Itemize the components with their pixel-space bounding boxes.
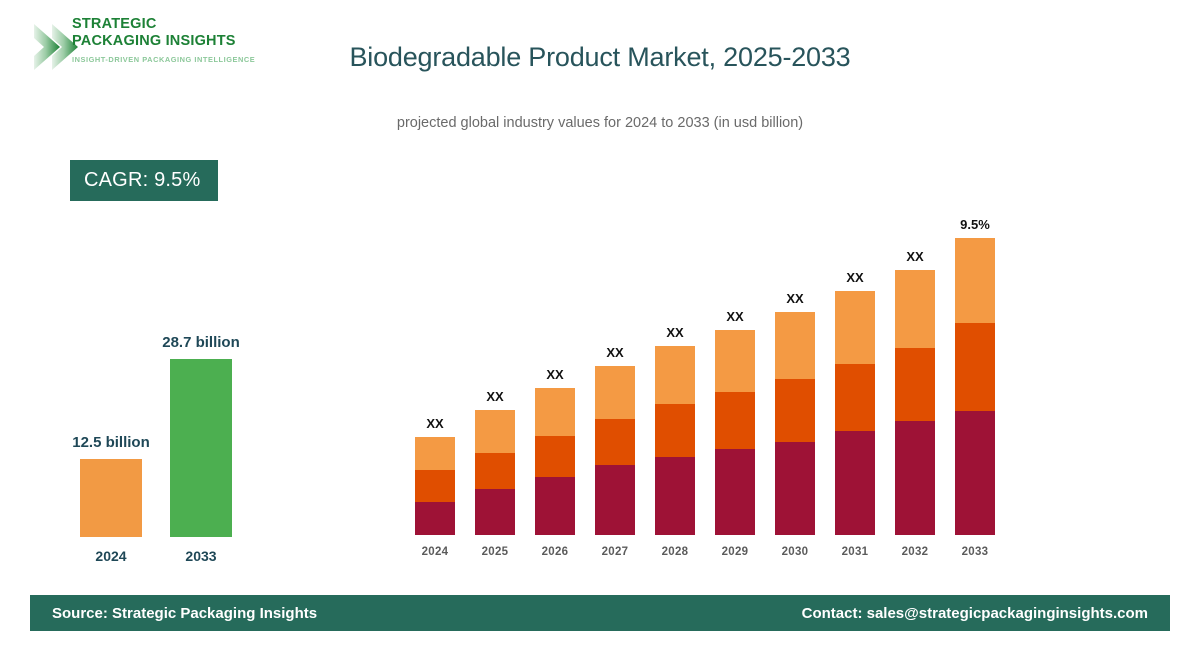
stacked-segment-segment-middle (415, 470, 455, 502)
comparison-bar-chart: 12.5 billion202428.7 billion2033 (50, 300, 280, 570)
stacked-bar-value-label: XX (875, 249, 955, 264)
stacked-segment-segment-top (475, 410, 515, 453)
stacked-column: XX2028 (655, 225, 695, 560)
stacked-segment-segment-top (415, 437, 455, 470)
page-subtitle: projected global industry values for 202… (250, 115, 950, 131)
stacked-segment-segment-top (775, 312, 815, 379)
stacked-segment-segment-middle (475, 453, 515, 489)
cagr-badge: CAGR: 9.5% (70, 160, 218, 201)
stacked-bar (415, 437, 455, 535)
stacked-bar-value-label: XX (815, 270, 895, 285)
footer-bar: Source: Strategic Packaging Insights Con… (30, 595, 1170, 631)
stacked-column: XX2024 (415, 225, 455, 560)
stacked-bar (895, 270, 935, 535)
stacked-segment-segment-bottom (655, 457, 695, 535)
stacked-segment-segment-top (715, 330, 755, 392)
stacked-segment-segment-middle (655, 404, 695, 457)
comparison-year-label: 2033 (170, 548, 232, 564)
comparison-value-label: 28.7 billion (140, 334, 262, 351)
logo-line-2: PACKAGING INSIGHTS (72, 33, 255, 50)
stacked-bar-value-label: XX (515, 367, 595, 382)
stacked-segment-segment-top (595, 366, 635, 419)
stacked-column: 9.5%2033 (955, 225, 995, 560)
comparison-bar (80, 459, 142, 537)
stacked-column: XX2032 (895, 225, 935, 560)
stacked-segment-segment-bottom (415, 502, 455, 535)
logo-line-1: STRATEGIC (72, 16, 255, 33)
stacked-bar-value-label: XX (635, 325, 715, 340)
page-title: Biodegradable Product Market, 2025-2033 (250, 42, 950, 73)
stacked-segment-segment-bottom (475, 489, 515, 535)
stacked-segment-segment-middle (595, 419, 635, 465)
stacked-year-label: 2030 (769, 546, 821, 558)
stacked-segment-segment-top (655, 346, 695, 404)
comparison-year-label: 2024 (80, 548, 142, 564)
cagr-badge-label: CAGR: 9.5% (84, 169, 200, 192)
stacked-year-label: 2031 (829, 546, 881, 558)
stacked-year-label: 2033 (949, 546, 1001, 558)
stacked-segment-segment-middle (895, 348, 935, 421)
stacked-segment-segment-bottom (595, 465, 635, 535)
stacked-column: XX2030 (775, 225, 815, 560)
stacked-bar-value-label: XX (395, 416, 475, 431)
stacked-bar-value-label: XX (695, 309, 775, 324)
stacked-bar-chart: XX2024XX2025XX2026XX2027XX2028XX2029XX20… (405, 200, 1025, 560)
stacked-bar-value-label: XX (575, 345, 655, 360)
stacked-bar-value-label: XX (755, 291, 835, 306)
stacked-segment-segment-middle (775, 379, 815, 442)
stacked-segment-segment-bottom (895, 421, 935, 535)
comparison-value-label: 12.5 billion (50, 434, 172, 451)
stacked-column: XX2027 (595, 225, 635, 560)
stacked-column: XX2025 (475, 225, 515, 560)
stacked-year-label: 2027 (589, 546, 641, 558)
stacked-bar (595, 366, 635, 535)
stacked-year-label: 2024 (409, 546, 461, 558)
stacked-segment-segment-bottom (835, 431, 875, 535)
comparison-column: 28.7 billion2033 (170, 333, 232, 570)
stacked-year-label: 2029 (709, 546, 761, 558)
stacked-segment-segment-top (955, 238, 995, 323)
stacked-segment-segment-middle (835, 364, 875, 431)
stacked-bar (535, 388, 575, 535)
logo-tagline: INSIGHT-DRIVEN PACKAGING INTELLIGENCE (72, 54, 255, 65)
comparison-column: 12.5 billion2024 (80, 333, 142, 570)
stacked-bar-value-label: XX (455, 389, 535, 404)
stacked-bar (655, 346, 695, 535)
stacked-year-label: 2032 (889, 546, 941, 558)
stacked-column: XX2031 (835, 225, 875, 560)
stacked-segment-segment-bottom (955, 411, 995, 535)
stacked-segment-segment-middle (955, 323, 995, 411)
stacked-segment-segment-top (835, 291, 875, 364)
stacked-column: XX2029 (715, 225, 755, 560)
stacked-bar (835, 291, 875, 535)
stacked-year-label: 2026 (529, 546, 581, 558)
stacked-segment-segment-bottom (535, 477, 575, 535)
comparison-bar (170, 359, 232, 537)
stacked-bar (475, 410, 515, 535)
stacked-bar (775, 312, 815, 535)
stacked-segment-segment-top (535, 388, 575, 436)
stacked-segment-segment-bottom (775, 442, 815, 535)
stacked-year-label: 2025 (469, 546, 521, 558)
footer-source-text: Source: Strategic Packaging Insights (52, 605, 317, 622)
logo-wordmark: STRATEGIC PACKAGING INSIGHTS INSIGHT-DRI… (72, 16, 255, 65)
stacked-year-label: 2028 (649, 546, 701, 558)
stacked-segment-segment-middle (535, 436, 575, 477)
stacked-bar (715, 330, 755, 535)
stacked-segment-segment-bottom (715, 449, 755, 535)
footer-contact-text: Contact: sales@strategicpackaginginsight… (802, 605, 1148, 622)
stacked-segment-segment-top (895, 270, 935, 348)
stacked-bar (955, 238, 995, 535)
stacked-column: XX2026 (535, 225, 575, 560)
stacked-bar-value-label: 9.5% (935, 217, 1015, 232)
stacked-segment-segment-middle (715, 392, 755, 449)
